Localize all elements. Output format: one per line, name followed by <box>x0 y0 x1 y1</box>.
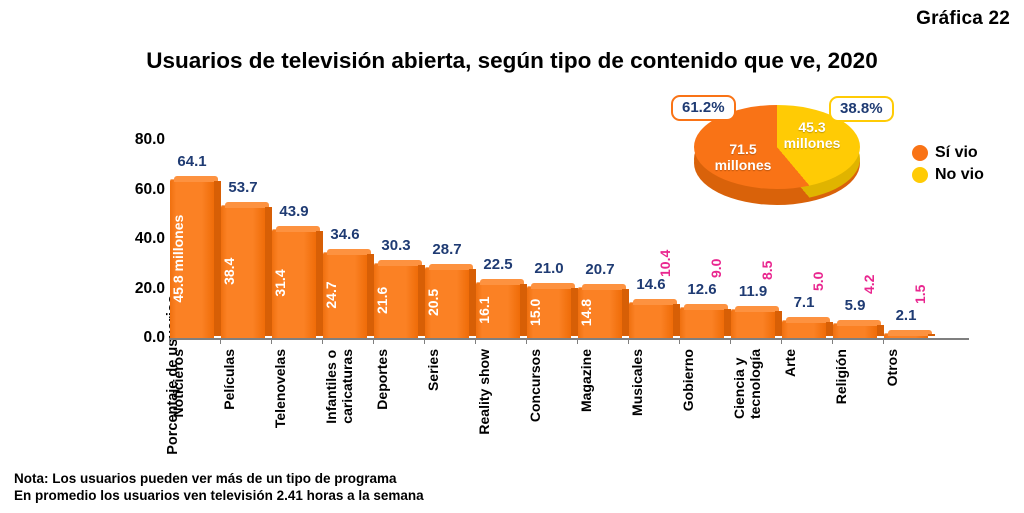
bar-side-face <box>826 322 833 336</box>
x-axis-category-label: Concursos <box>527 349 571 422</box>
legend-label-no-vio: No vio <box>935 166 984 184</box>
bar-secondary-label: 38.4 <box>221 211 265 332</box>
bar[interactable]: 43.931.4Telenovelas <box>272 0 316 513</box>
y-axis-tick-labels: 0.020.040.060.080.0 <box>105 0 165 513</box>
bar-chart-plot: Porcentaje de usuarios 0.020.040.060.080… <box>0 0 1024 513</box>
bar-side-face <box>724 309 731 336</box>
bar-secondary-label: 9.0 <box>680 237 724 299</box>
bar[interactable]: 21.015.0Concursos <box>527 0 571 513</box>
bar[interactable]: 64.145.8 millonesNoticieros <box>170 0 214 513</box>
bar-top-face <box>174 176 218 182</box>
x-axis-category-label: Reality show <box>476 349 520 435</box>
bar[interactable]: 20.714.8Magazine <box>578 0 622 513</box>
bar[interactable]: 28.720.5Series <box>425 0 469 513</box>
x-axis-category-label: Deportes <box>374 349 418 410</box>
x-axis-category-label: Otros <box>884 349 928 386</box>
bar-secondary-label: 21.6 <box>374 269 418 332</box>
pie-legend: Sí vio No vio <box>912 142 984 186</box>
bar-secondary-label: 20.5 <box>425 273 469 332</box>
x-axis-tick <box>577 339 578 344</box>
x-axis-tick <box>781 339 782 344</box>
chart-note-line-1: Nota: Los usuarios pueden ver más de un … <box>14 470 424 487</box>
x-axis-category-label: Telenovelas <box>272 349 316 428</box>
x-axis-tick <box>526 339 527 344</box>
bar-top-face <box>225 202 269 208</box>
bar-secondary-label: 10.4 <box>629 232 673 294</box>
bar-top-face <box>378 260 422 266</box>
bar-side-face <box>469 269 476 336</box>
bar-secondary-label: 4.2 <box>833 253 877 315</box>
bar[interactable]: 34.624.7Infantiles o caricaturas <box>323 0 367 513</box>
x-axis-category-label: Magazine <box>578 349 622 412</box>
bar-top-face <box>429 264 473 270</box>
bar-value-label: 53.7 <box>213 179 273 196</box>
bar-value-label: 43.9 <box>264 203 324 220</box>
bar-side-face <box>877 325 884 336</box>
bar-value-label: 64.1 <box>162 153 222 170</box>
pie-slice-label-no-vio: 45.3millones <box>774 119 850 151</box>
bar-secondary-label: 24.7 <box>323 258 367 332</box>
bar-top-face <box>786 317 830 323</box>
bar-side-face <box>571 288 578 336</box>
bar-side-face <box>316 231 323 336</box>
bar-series: 64.145.8 millonesNoticieros53.738.4Pelíc… <box>169 0 969 513</box>
bar-secondary-label: 16.1 <box>476 288 520 332</box>
x-axis-category-label: Noticieros <box>170 349 214 417</box>
callout-no-vio-percent: 38.8% <box>829 96 894 122</box>
legend-item-no-vio[interactable]: No vio <box>912 164 984 186</box>
bar-side-face <box>367 254 374 336</box>
bar-top-face <box>684 304 728 310</box>
legend-label-si-vio: Sí vio <box>935 144 978 162</box>
bar-front-face <box>680 307 724 338</box>
bar-side-face <box>622 289 629 336</box>
x-axis-tick <box>373 339 374 344</box>
x-axis-tick <box>424 339 425 344</box>
bar-top-face <box>837 320 881 326</box>
bar-front-face <box>782 320 826 338</box>
bar[interactable]: 30.321.6Deportes <box>374 0 418 513</box>
x-axis-tick <box>679 339 680 344</box>
x-axis-category-label: Musicales <box>629 349 673 416</box>
bar-top-face <box>531 283 575 289</box>
bar-top-face <box>633 299 677 305</box>
bar[interactable]: 2.11.5Otros <box>884 0 928 513</box>
bar-secondary-label: 14.8 <box>578 293 622 332</box>
x-axis-tick <box>322 339 323 344</box>
bar-side-face <box>775 311 782 336</box>
bar-top-face <box>480 279 524 285</box>
bar-top-face <box>327 249 371 255</box>
bar-side-face <box>928 334 935 336</box>
bar[interactable]: 53.738.4Películas <box>221 0 265 513</box>
y-axis-tick: 60.0 <box>105 181 165 199</box>
x-axis-category-label: Religión <box>833 349 877 404</box>
bar-secondary-label: 8.5 <box>731 239 775 301</box>
bar-secondary-label: 45.8 millones <box>170 185 214 332</box>
x-axis-category-label: Arte <box>782 349 826 377</box>
bar-front-face <box>629 302 673 338</box>
bar-top-face <box>276 226 320 232</box>
x-axis-tick <box>475 339 476 344</box>
bar[interactable]: 7.15.0Arte <box>782 0 826 513</box>
x-axis-tick <box>628 339 629 344</box>
x-axis-tick <box>883 339 884 344</box>
bar-side-face <box>673 304 680 336</box>
bar-secondary-label: 15.0 <box>527 292 571 332</box>
bar-secondary-label: 5.0 <box>782 250 826 312</box>
chart-note: Nota: Los usuarios pueden ver más de un … <box>14 470 424 504</box>
bar[interactable]: 11.98.5Ciencia y tecnología <box>731 0 775 513</box>
x-axis-tick <box>220 339 221 344</box>
x-axis-category-label: Películas <box>221 349 265 410</box>
chart-note-line-2: En promedio los usuarios ven televisión … <box>14 487 424 504</box>
x-axis-category-label: Series <box>425 349 469 391</box>
bar-side-face <box>418 265 425 336</box>
y-axis-tick: 80.0 <box>105 131 165 149</box>
x-axis-tick <box>730 339 731 344</box>
y-axis-tick: 0.0 <box>105 329 165 347</box>
bar-side-face <box>265 207 272 336</box>
bar-front-face <box>731 309 775 338</box>
x-axis-category-label: Gobierno <box>680 349 724 411</box>
x-axis-tick <box>169 339 170 344</box>
x-axis-tick <box>271 339 272 344</box>
bar-side-face <box>214 181 221 336</box>
bar-top-face <box>735 306 779 312</box>
y-axis-tick: 40.0 <box>105 230 165 248</box>
bar-top-face <box>888 330 932 336</box>
bar-secondary-label: 31.4 <box>272 235 316 332</box>
bar[interactable]: 5.94.2Religión <box>833 0 877 513</box>
x-axis-tick <box>832 339 833 344</box>
x-axis-category-label: Infantiles o caricaturas <box>323 349 367 424</box>
legend-swatch-icon-no-vio <box>912 167 928 183</box>
x-axis-category-label: Ciencia y tecnología <box>731 349 775 419</box>
legend-item-si-vio[interactable]: Sí vio <box>912 142 984 164</box>
legend-swatch-icon-si-vio <box>912 145 928 161</box>
bar-secondary-label: 1.5 <box>884 263 928 325</box>
bar[interactable]: 14.610.4Musicales <box>629 0 673 513</box>
callout-si-vio-percent: 61.2% <box>671 95 736 121</box>
y-axis-tick: 20.0 <box>105 280 165 298</box>
bar-top-face <box>582 284 626 290</box>
bar-side-face <box>520 284 527 336</box>
bar[interactable]: 22.516.1Reality show <box>476 0 520 513</box>
bar[interactable]: 12.69.0Gobierno <box>680 0 724 513</box>
